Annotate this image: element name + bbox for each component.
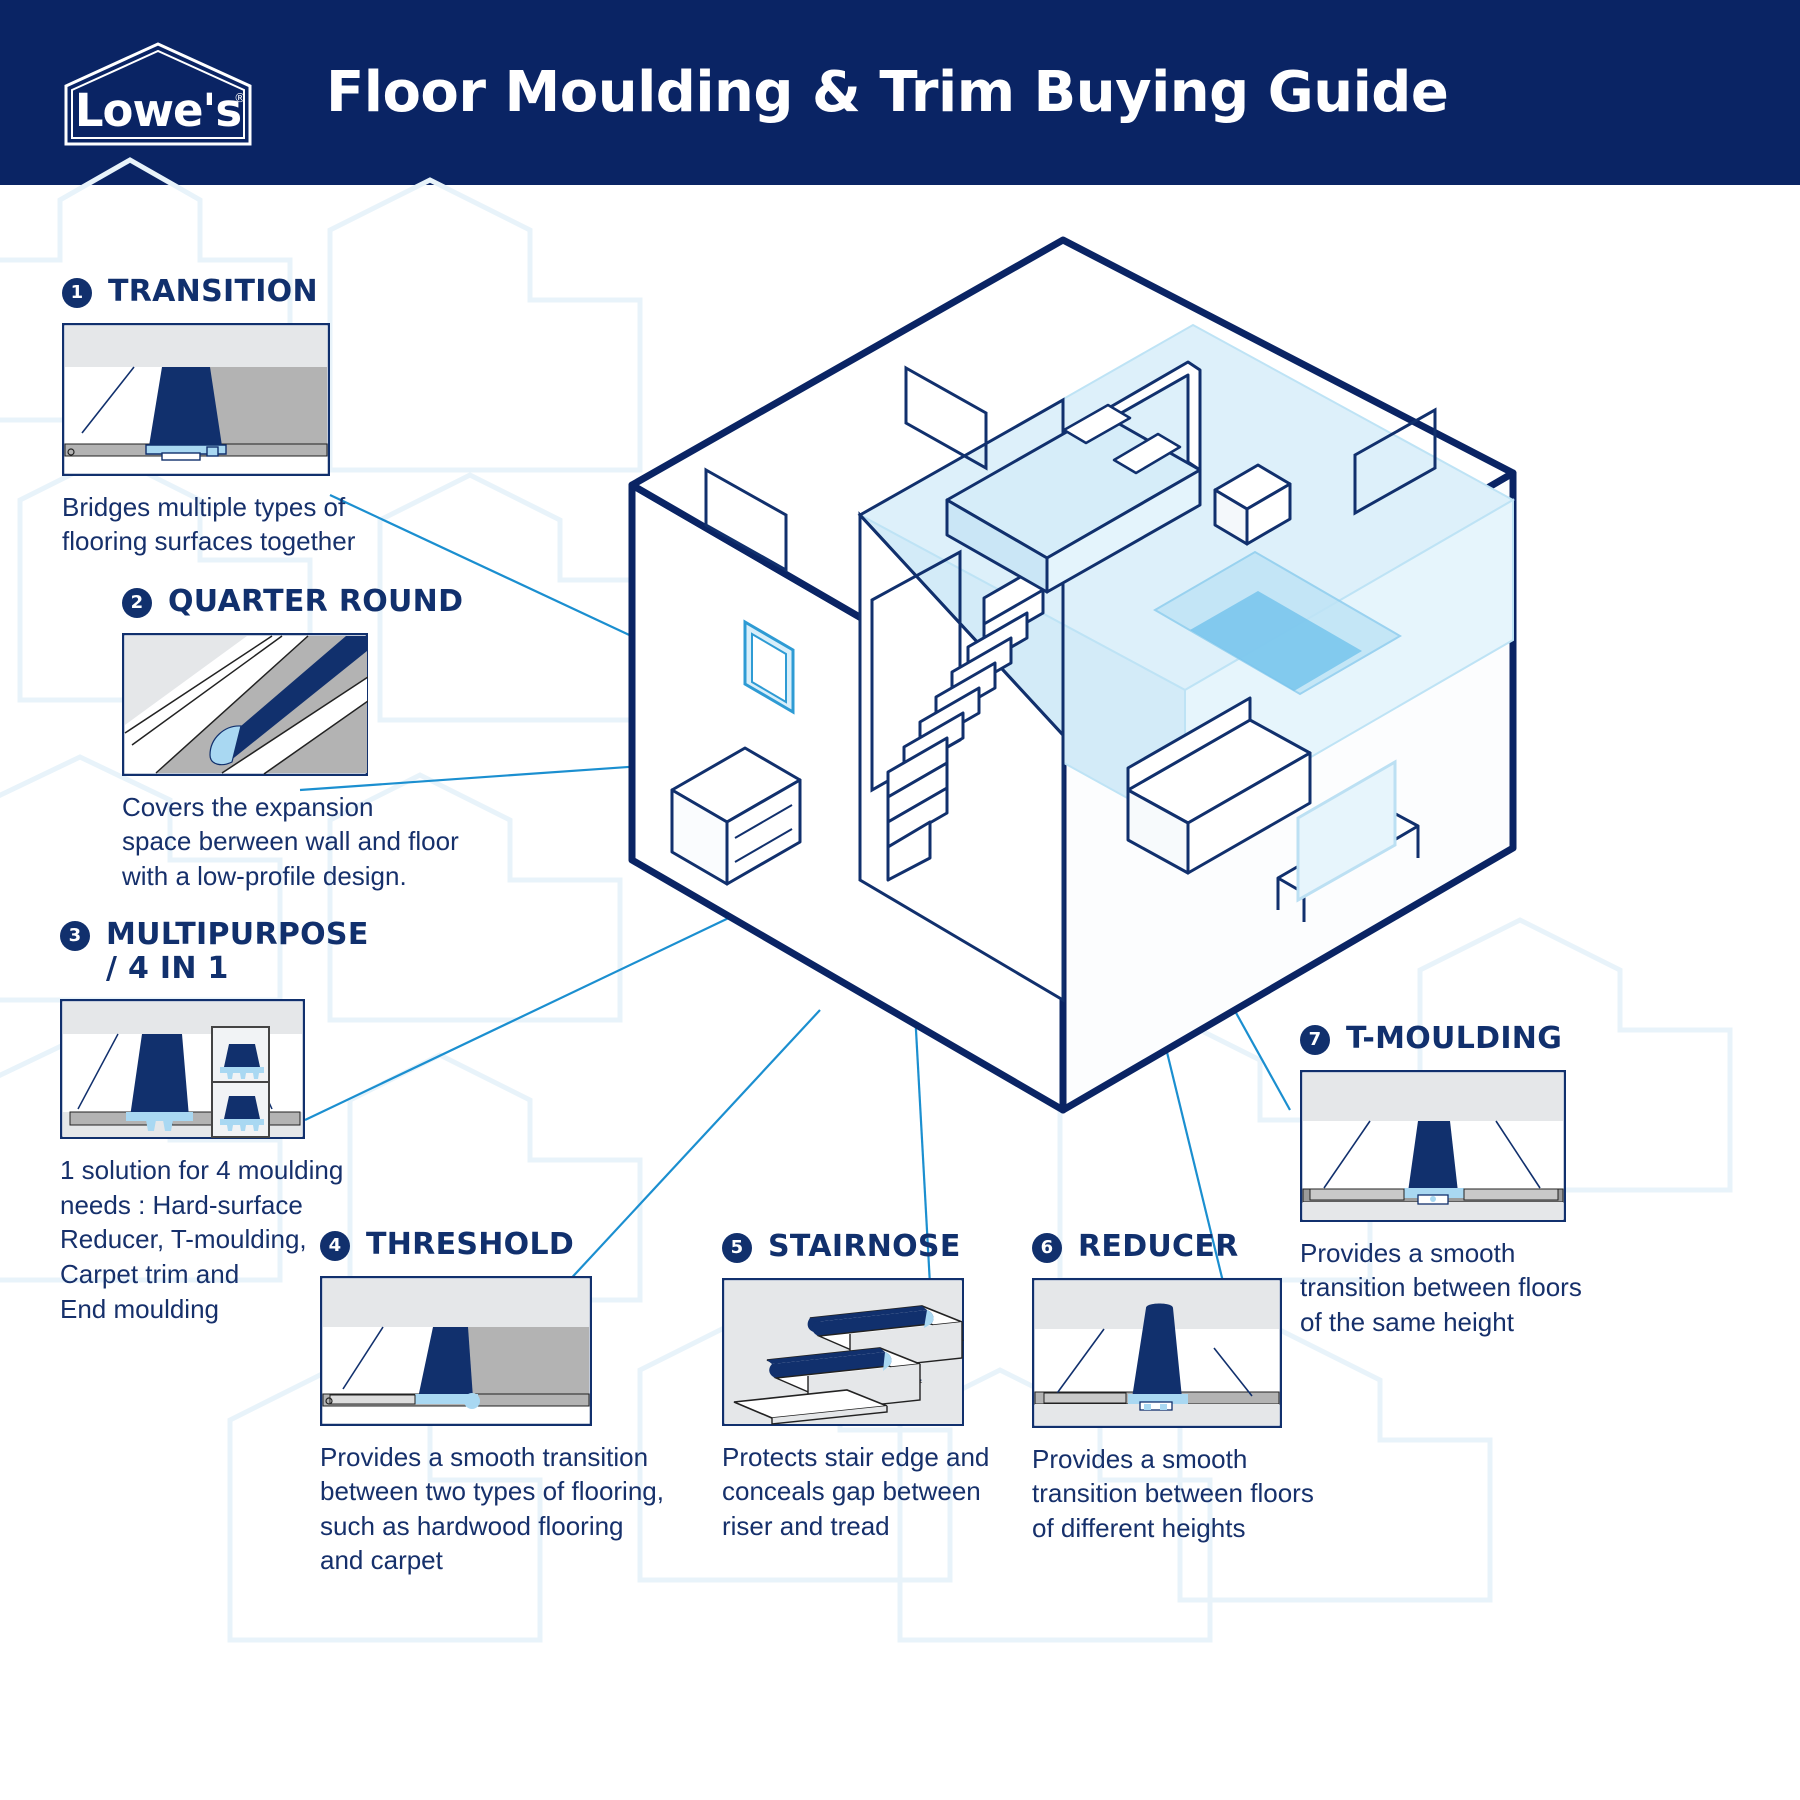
section-t-moulding-caption: Provides a smooth transition between flo… — [1300, 1236, 1600, 1340]
section-transition-heading: 1 TRANSITION — [62, 275, 482, 309]
section-reducer-caption: Provides a smooth transition between flo… — [1032, 1442, 1332, 1546]
threshold-profile-icon — [320, 1276, 720, 1426]
transition-profile-icon — [62, 323, 482, 476]
section-quarter-round-heading: 2 QUARTER ROUND — [122, 585, 542, 619]
t-moulding-profile-icon — [1300, 1070, 1600, 1222]
section-t-moulding-heading: 7 T-MOULDING — [1300, 1022, 1600, 1056]
badge-number-4: 4 — [320, 1231, 350, 1261]
section-reducer: 6 REDUCER Provides a smooth transition b… — [1032, 1230, 1332, 1545]
section-quarter-round-title: QUARTER ROUND — [168, 585, 463, 619]
multipurpose-profile-icon — [60, 999, 400, 1139]
section-stairnose-heading: 5 STAIRNOSE — [722, 1230, 1012, 1264]
reducer-profile-icon — [1032, 1278, 1332, 1428]
badge-number-3: 3 — [60, 921, 90, 951]
badge-number-6: 6 — [1032, 1233, 1062, 1263]
section-stairnose-title: STAIRNOSE — [768, 1230, 961, 1264]
section-reducer-title: REDUCER — [1078, 1230, 1239, 1264]
section-t-moulding-title: T-MOULDING — [1346, 1022, 1562, 1056]
section-transition-caption: Bridges multiple types of flooring surfa… — [62, 490, 482, 559]
section-reducer-heading: 6 REDUCER — [1032, 1230, 1332, 1264]
badge-number-1: 1 — [62, 278, 92, 308]
section-quarter-round-caption: Covers the expansion space berween wall … — [122, 790, 542, 894]
section-stairnose: 5 STAIRNOSE Pr — [722, 1230, 1012, 1543]
badge-number-2: 2 — [122, 588, 152, 618]
badge-number-5: 5 — [722, 1233, 752, 1263]
section-transition: 1 TRANSITION Bridges multiple types of f… — [62, 275, 482, 559]
quarter-round-profile-icon — [122, 633, 542, 776]
section-threshold-heading: 4 THRESHOLD — [320, 1228, 720, 1262]
section-multipurpose-heading: 3 MULTIPURPOSE / 4 IN 1 — [60, 918, 400, 985]
section-stairnose-caption: Protects stair edge and conceals gap bet… — [722, 1440, 1012, 1544]
section-threshold: 4 THRESHOLD Provides a smooth transition… — [320, 1228, 720, 1578]
section-quarter-round: 2 QUARTER ROUND Covers the expansion spa… — [122, 585, 542, 893]
section-multipurpose-title: MULTIPURPOSE / 4 IN 1 — [106, 918, 369, 985]
section-t-moulding: 7 T-MOULDING Provides a smooth transitio… — [1300, 1022, 1600, 1339]
section-transition-title: TRANSITION — [108, 275, 318, 309]
section-threshold-caption: Provides a smooth transition between two… — [320, 1440, 720, 1578]
stairnose-profile-icon — [722, 1278, 1012, 1426]
badge-number-7: 7 — [1300, 1025, 1330, 1055]
section-threshold-title: THRESHOLD — [366, 1228, 574, 1262]
